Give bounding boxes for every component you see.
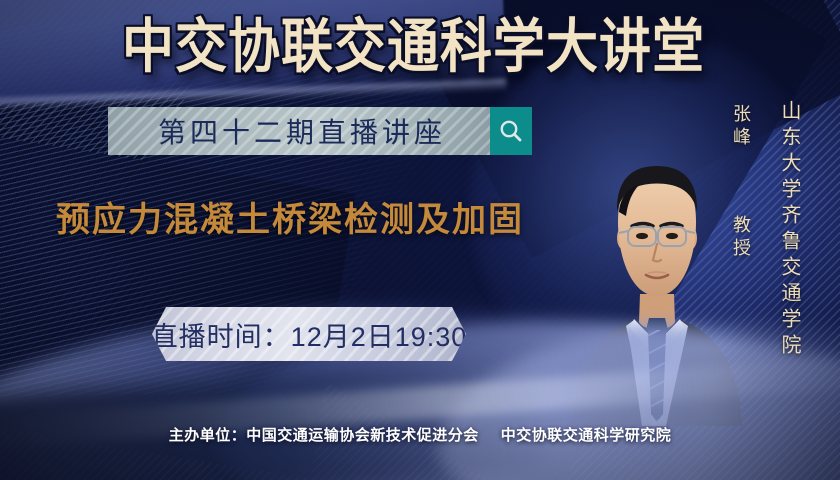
footer-organizer-1: 中国交通运输协会新技术促进分会 bbox=[246, 424, 479, 445]
page-title: 中交协联交通科学大讲堂 bbox=[122, 14, 702, 81]
live-time-text: 直播时间：12月2日19:30 bbox=[152, 315, 466, 354]
search-icon bbox=[498, 118, 524, 144]
series-badge: 第四十二期直播讲座 bbox=[108, 107, 532, 155]
speaker-name: 张峰 bbox=[728, 104, 754, 150]
search-button[interactable] bbox=[490, 107, 532, 155]
lecture-title: 预应力混凝土桥梁检测及加固 bbox=[56, 192, 524, 241]
series-badge-label: 第四十二期直播讲座 bbox=[152, 111, 446, 151]
speaker-role: 教授 bbox=[728, 215, 754, 261]
speaker-affiliation: 山东大学齐鲁交通学院 bbox=[775, 100, 804, 360]
footer-organizers: 主办单位：中国交通运输协会新技术促进分会中交协联交通科学研究院 bbox=[0, 424, 840, 445]
footer-organizer-2: 中交协联交通科学研究院 bbox=[501, 424, 672, 445]
live-time-badge: 直播时间：12月2日19:30 bbox=[152, 307, 466, 361]
footer-prefix: 主办单位： bbox=[169, 424, 247, 445]
live-lecture-poster: 中交协联交通科学大讲堂 第四十二期直播讲座 预应力混凝土桥梁检测及加固 直播时间… bbox=[0, 0, 840, 480]
series-badge-background: 第四十二期直播讲座 bbox=[108, 107, 490, 155]
